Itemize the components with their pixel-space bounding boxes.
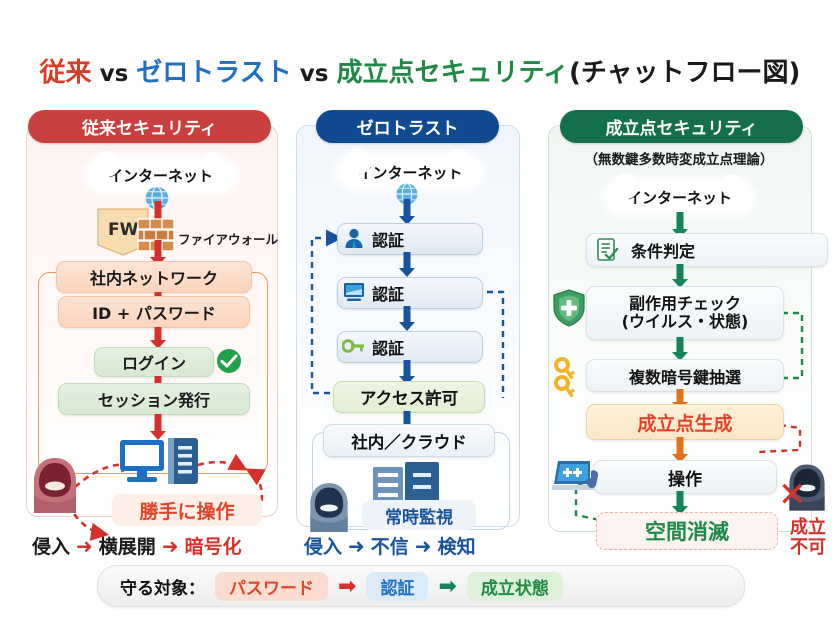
box-operation-label: 操作: [668, 465, 702, 490]
desktop-server-icon: [118, 436, 203, 492]
box-access-allow-label: アクセス許可: [360, 385, 458, 409]
box-seiritsu-generate[interactable]: 成立点生成: [586, 404, 784, 440]
box-auth-user-label: 認証: [372, 227, 404, 251]
flow-col1-step3: 暗号化: [185, 532, 242, 559]
column-seiritsu-header-label: 成立点セキュリティ: [606, 114, 758, 139]
flow-col1-arrow1: ➜: [76, 534, 93, 558]
box-space-vanish-label: 空間消滅: [645, 516, 729, 546]
box-auth-device-label: 認証: [372, 281, 404, 305]
arrow-condition-to-sideeffect: [670, 264, 690, 288]
box-id-password-label: ID + パスワード: [92, 300, 216, 324]
flow-row-col1: 侵入 ➜ 横展開 ➜ 暗号化: [32, 532, 242, 559]
flow-col1-arrow2: ➜: [162, 534, 179, 558]
attack-label-box: 勝手に操作: [112, 494, 262, 526]
flow-col2-step2: 不信: [371, 532, 409, 559]
flow-col2-step3: 検知: [438, 532, 476, 559]
flow-col1-step2: 横展開: [99, 532, 156, 559]
x-mark-icon: ✕: [778, 478, 807, 512]
box-space-vanish[interactable]: 空間消滅: [596, 512, 778, 550]
box-condition-check[interactable]: 条件判定: [586, 233, 828, 267]
title-segment-zerotrust: ゼロトラスト: [136, 58, 291, 88]
protection-target-label: 守る対象：: [120, 574, 205, 599]
attack-label: 勝手に操作: [139, 497, 234, 524]
box-continuous-monitoring[interactable]: 常時監視: [362, 500, 476, 530]
flow-col2-arrow1: ➜: [348, 534, 365, 558]
fail-label-line2: 不可: [780, 538, 836, 558]
title-vs-1: vs: [100, 61, 129, 87]
user-icon: [343, 227, 365, 249]
box-id-password[interactable]: ID + パスワード: [58, 296, 250, 328]
arrow-internet-to-auth1: [397, 199, 417, 225]
column-seiritsu-subtitle: （無数鍵多数時変成立点理論）: [548, 148, 810, 168]
box-login[interactable]: ログイン: [94, 347, 214, 377]
column-zerotrust-header: ゼロトラスト: [316, 110, 499, 143]
box-internal-cloud-label: 社内／クラウド: [351, 429, 467, 453]
column-conventional-header-label: 従来セキュリティ: [82, 114, 217, 139]
title-segment-conventional: 従来: [40, 58, 92, 88]
flow-col2-arrow2: ➜: [415, 534, 432, 558]
internet-cloud-col3-label: インターネット: [627, 187, 732, 208]
box-internal-network-label: 社内ネットワーク: [90, 265, 218, 289]
box-continuous-monitoring-label: 常時監視: [385, 503, 453, 528]
box-session-issue[interactable]: セッション発行: [58, 383, 250, 415]
box-auth-key-label: 認証: [372, 335, 404, 359]
box-side-effect-check-label: 副作用チェック: [622, 295, 749, 313]
arrow-auth1-to-auth2: [397, 252, 417, 277]
title-segment-seiritsu: 成立点セキュリティ: [336, 58, 568, 88]
flow-row-col2: 侵入 ➜ 不信 ➜ 検知: [304, 532, 476, 559]
double-key-icon: [550, 355, 588, 401]
column-conventional-header: 従来セキュリティ: [28, 110, 271, 143]
chip-authentication[interactable]: 認証: [366, 572, 428, 601]
protection-target-bar: 守る対象： パスワード ➡ 認証 ➡ 成立状態: [97, 565, 745, 607]
chip-password[interactable]: パスワード: [215, 572, 328, 601]
box-session-issue-label: セッション発行: [98, 387, 210, 411]
firewall-label: ファイアウォール: [178, 229, 278, 248]
arrow-sideeffect-to-keylottery: [670, 337, 690, 361]
box-operation[interactable]: 操作: [593, 460, 777, 494]
fail-label: 成立 不可: [780, 518, 836, 558]
box-internal-cloud[interactable]: 社内／クラウド: [323, 424, 495, 457]
chip-seiritsu-state[interactable]: 成立状態: [467, 572, 563, 601]
arrow-idpw-to-login: [148, 327, 168, 349]
box-multi-key-lottery-label: 複数暗号鍵抽選: [629, 364, 741, 388]
diagram-canvas: 従来 vs ゼロトラスト vs 成立点セキュリティ(チャットフロー図): [0, 0, 840, 630]
checklist-icon: [595, 238, 619, 262]
check-icon: [216, 348, 242, 374]
shield-plus-icon: [552, 289, 586, 327]
box-multi-key-lottery[interactable]: 複数暗号鍵抽選: [586, 359, 784, 392]
title-vs-2: vs: [300, 61, 329, 87]
page-title: 従来 vs ゼロトラスト vs 成立点セキュリティ(チャットフロー図): [0, 52, 840, 89]
fail-label-line1: 成立: [780, 518, 836, 538]
flow-col2-step1: 侵入: [304, 532, 342, 559]
monitor-icon: [343, 282, 365, 302]
laptop-hand-icon: [552, 457, 608, 497]
box-side-effect-check-sublabel: (ウイルス・状態): [622, 313, 749, 331]
box-condition-check-label: 条件判定: [631, 238, 695, 262]
bottom-arrow-1: ➡: [338, 574, 356, 599]
box-internal-network[interactable]: 社内ネットワーク: [56, 261, 252, 293]
box-side-effect-check[interactable]: 副作用チェック (ウイルス・状態): [586, 286, 784, 340]
hacker-blue-icon: [305, 480, 353, 536]
box-login-label: ログイン: [122, 350, 186, 374]
hacker-red-icon: [28, 455, 82, 517]
column-zerotrust-header-label: ゼロトラスト: [357, 114, 459, 139]
flow-col1-step1: 侵入: [32, 532, 70, 559]
box-access-allow[interactable]: アクセス許可: [333, 381, 485, 413]
key-icon: [342, 337, 366, 355]
bottom-arrow-2: ➡: [438, 574, 456, 599]
title-segment-suffix: (チャットフロー図): [569, 58, 801, 88]
internet-cloud-col3: インターネット: [607, 182, 752, 212]
arrow-auth2-to-auth3: [397, 306, 417, 331]
column-seiritsu-header: 成立点セキュリティ: [560, 110, 803, 143]
box-seiritsu-generate-label: 成立点生成: [637, 409, 732, 436]
svg-text:FW: FW: [108, 220, 139, 240]
